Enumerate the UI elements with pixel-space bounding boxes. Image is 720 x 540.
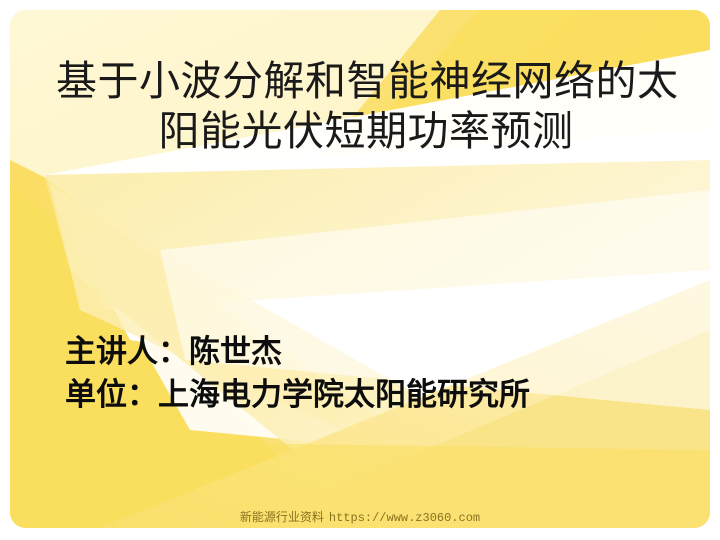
- subtitle-affiliation: 单位：上海电力学院太阳能研究所: [65, 373, 685, 416]
- subtitle-presenter: 主讲人：陈世杰: [65, 330, 685, 373]
- watermark-label: 新能源行业资料: [240, 510, 324, 524]
- title-line-2: 阳能光伏短期功率预测: [56, 106, 676, 156]
- slide-subtitle: 主讲人：陈世杰 单位：上海电力学院太阳能研究所: [65, 330, 685, 416]
- slide-title: 基于小波分解和智能神经网络的太 阳能光伏短期功率预测: [56, 56, 676, 156]
- title-line-1: 基于小波分解和智能神经网络的太: [56, 56, 676, 106]
- slide-canvas: 基于小波分解和智能神经网络的太 阳能光伏短期功率预测 主讲人：陈世杰 单位：上海…: [10, 10, 710, 528]
- watermark-url[interactable]: https://www.z3060.com: [329, 511, 480, 525]
- slide-container: 基于小波分解和智能神经网络的太 阳能光伏短期功率预测 主讲人：陈世杰 单位：上海…: [0, 0, 720, 540]
- footer-watermark: 新能源行业资料https://www.z3060.com: [0, 508, 720, 526]
